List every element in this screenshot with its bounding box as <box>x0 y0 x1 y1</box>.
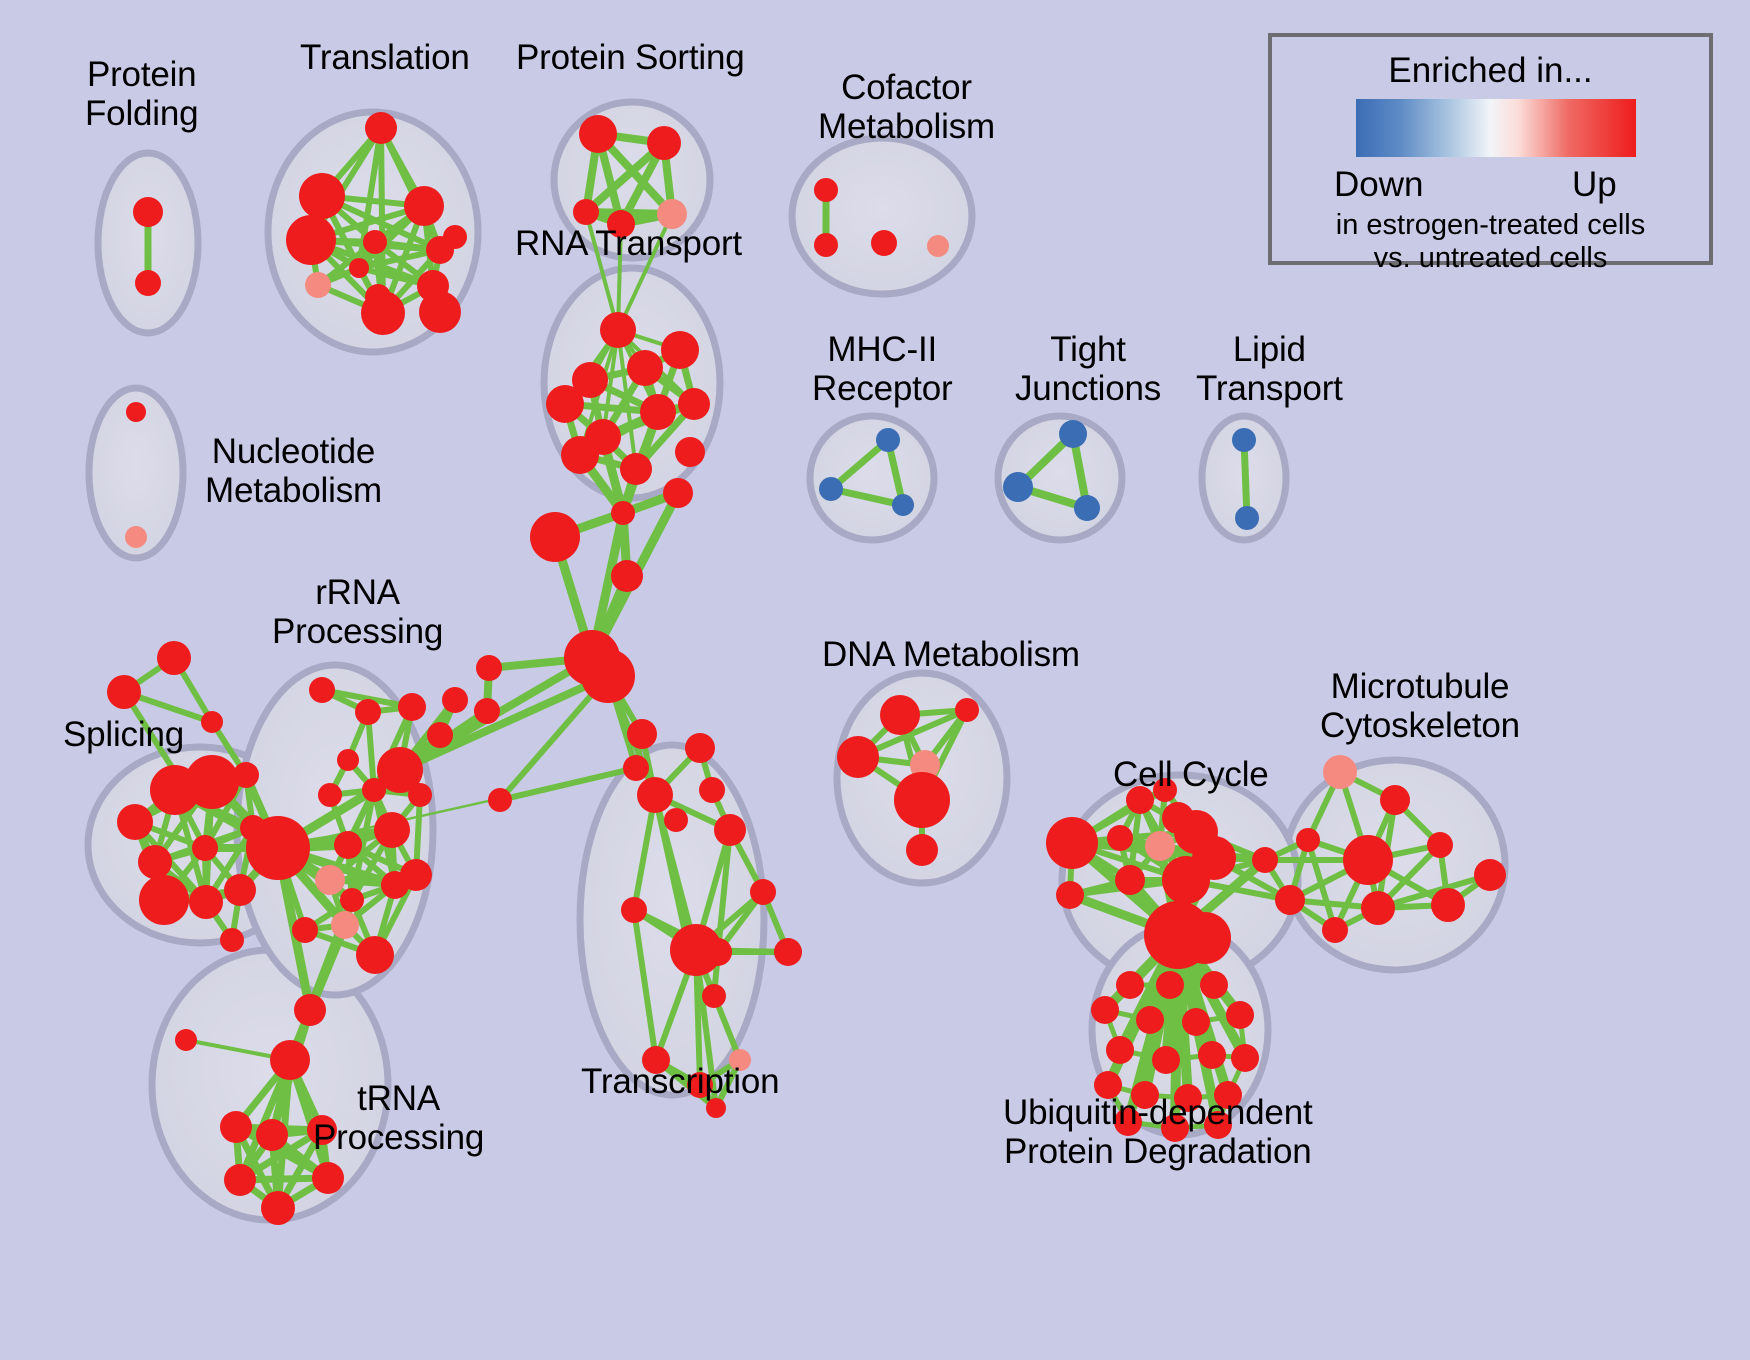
node <box>334 831 362 859</box>
node <box>175 1029 197 1051</box>
node <box>374 812 410 848</box>
node <box>1182 1008 1210 1036</box>
legend-subtitle-2: vs. untreated cells <box>1272 242 1709 275</box>
node <box>135 270 161 296</box>
node <box>1474 859 1506 891</box>
node <box>299 173 345 219</box>
cluster-label-dna-metabolism: DNA Metabolism <box>822 635 1080 674</box>
node <box>1322 917 1348 943</box>
node <box>294 994 326 1026</box>
node <box>1156 971 1184 999</box>
node <box>356 936 394 974</box>
legend-color-bar <box>1356 99 1636 157</box>
node <box>1192 836 1236 880</box>
node <box>185 755 239 809</box>
node <box>355 699 381 725</box>
cluster-label-nucleotide-metabolism: Nucleotide Metabolism <box>205 432 382 510</box>
node <box>819 477 843 501</box>
node <box>1232 428 1256 452</box>
node <box>192 835 218 861</box>
node <box>621 897 647 923</box>
enrichment-map-figure: Protein Folding Translation Protein Sort… <box>0 0 1750 1360</box>
node <box>363 230 387 254</box>
node <box>1200 971 1228 999</box>
cluster-label-splicing: Splicing <box>63 715 184 754</box>
node <box>579 115 617 153</box>
legend-subtitle-1: in estrogen-treated cells <box>1272 209 1709 242</box>
node <box>1116 971 1144 999</box>
node <box>117 804 153 840</box>
node <box>678 388 710 420</box>
node <box>233 762 259 788</box>
node <box>546 385 584 423</box>
node <box>107 675 141 709</box>
node <box>224 1164 256 1196</box>
node <box>927 235 949 257</box>
node <box>685 733 715 763</box>
node <box>702 984 726 1008</box>
node <box>220 928 244 952</box>
node <box>1115 865 1145 895</box>
node <box>600 312 636 348</box>
legend-up-label: Up <box>1572 165 1617 205</box>
node <box>1059 420 1087 448</box>
node <box>1198 1041 1226 1069</box>
cluster-label-mhc-ii-receptor: MHC-II Receptor <box>812 330 952 408</box>
node <box>312 1162 344 1194</box>
node <box>427 722 453 748</box>
node <box>892 494 914 516</box>
node <box>419 291 461 333</box>
node <box>627 350 663 386</box>
node <box>1046 817 1098 869</box>
cluster-label-protein-sorting: Protein Sorting <box>516 38 745 77</box>
node <box>871 230 897 256</box>
node <box>1380 785 1410 815</box>
cluster-label-tight-junctions: Tight Junctions <box>1015 330 1161 408</box>
node <box>261 1191 295 1225</box>
legend-title: Enriched in... <box>1272 51 1709 91</box>
cluster-label-trna-processing: tRNA Processing <box>313 1079 484 1157</box>
node <box>627 719 657 749</box>
node <box>170 770 190 790</box>
node <box>894 772 950 828</box>
node <box>361 291 405 335</box>
node <box>292 917 318 943</box>
node <box>426 236 454 264</box>
node <box>814 233 838 257</box>
node <box>138 845 172 879</box>
node <box>476 655 502 681</box>
cluster-label-protein-folding: Protein Folding <box>85 55 198 133</box>
node <box>699 777 725 803</box>
node <box>126 402 146 422</box>
node <box>1427 832 1453 858</box>
node <box>286 215 336 265</box>
node <box>837 736 879 778</box>
node <box>1323 755 1357 789</box>
node <box>611 501 635 525</box>
node <box>880 695 920 735</box>
node <box>675 437 705 467</box>
node <box>1003 472 1033 502</box>
node <box>561 436 599 474</box>
node <box>1136 1006 1164 1034</box>
node <box>1231 1044 1259 1072</box>
cluster-label-lipid-transport: Lipid Transport <box>1196 330 1343 408</box>
node <box>1091 996 1119 1024</box>
node <box>1152 1046 1180 1074</box>
node <box>365 112 397 144</box>
node <box>1145 831 1175 861</box>
node <box>611 560 643 592</box>
node <box>398 693 426 721</box>
node <box>623 755 649 781</box>
node <box>750 879 776 905</box>
node <box>305 272 331 298</box>
node <box>1431 888 1465 922</box>
node <box>157 641 191 675</box>
node <box>474 698 500 724</box>
node <box>246 816 310 880</box>
cluster-label-rna-transport: RNA Transport <box>515 224 742 263</box>
node <box>1106 1036 1134 1064</box>
cluster-label-microtubule: Microtubule Cytoskeleton <box>1320 667 1520 745</box>
node <box>340 888 364 912</box>
node <box>637 777 673 813</box>
node <box>661 331 699 369</box>
node <box>906 834 938 866</box>
node <box>133 197 163 227</box>
node <box>201 711 223 733</box>
node <box>620 453 652 485</box>
node <box>331 911 359 939</box>
node <box>1275 885 1305 915</box>
node <box>573 199 599 225</box>
node <box>814 178 838 202</box>
legend-panel: Enriched in... Down Up in estrogen-treat… <box>1268 33 1713 265</box>
node <box>1235 506 1259 530</box>
node <box>189 885 223 919</box>
node <box>663 478 693 508</box>
node <box>315 865 345 895</box>
cluster-label-transcription: Transcription <box>581 1062 779 1101</box>
cluster-blob-cofactor-metabolism <box>792 138 972 294</box>
node <box>714 814 746 846</box>
node <box>1074 495 1100 521</box>
node <box>1056 881 1084 909</box>
cluster-label-ubiquitin: Ubiquitin-dependent Protein Degradation <box>1003 1093 1313 1171</box>
cluster-label-rrna-processing: rRNA Processing <box>272 573 443 651</box>
node <box>139 875 189 925</box>
node <box>220 1111 252 1143</box>
legend-down-label: Down <box>1334 165 1423 205</box>
node <box>1107 825 1133 851</box>
node <box>1361 891 1395 925</box>
cluster-label-cell-cycle: Cell Cycle <box>1113 755 1269 794</box>
node <box>640 394 676 430</box>
node <box>270 1040 310 1080</box>
node <box>442 687 468 713</box>
node <box>224 874 256 906</box>
node <box>955 698 979 722</box>
node <box>1296 828 1320 852</box>
node <box>530 512 580 562</box>
node <box>876 428 900 452</box>
node <box>337 749 359 771</box>
node <box>400 859 432 891</box>
node <box>125 526 147 548</box>
node <box>664 808 688 832</box>
node <box>1162 802 1194 834</box>
node <box>647 126 681 160</box>
node <box>1226 1001 1254 1029</box>
node <box>349 258 369 278</box>
node <box>581 649 635 703</box>
node <box>309 677 335 703</box>
node <box>704 938 732 966</box>
node <box>404 186 444 226</box>
cluster-label-translation: Translation <box>300 38 470 77</box>
node <box>1179 912 1231 964</box>
node <box>774 938 802 966</box>
node <box>488 788 512 812</box>
node <box>256 1119 288 1151</box>
node <box>1252 847 1278 873</box>
node <box>408 783 432 807</box>
cluster-label-cofactor-metabolism: Cofactor Metabolism <box>818 68 995 146</box>
node <box>1343 835 1393 885</box>
node <box>318 783 342 807</box>
